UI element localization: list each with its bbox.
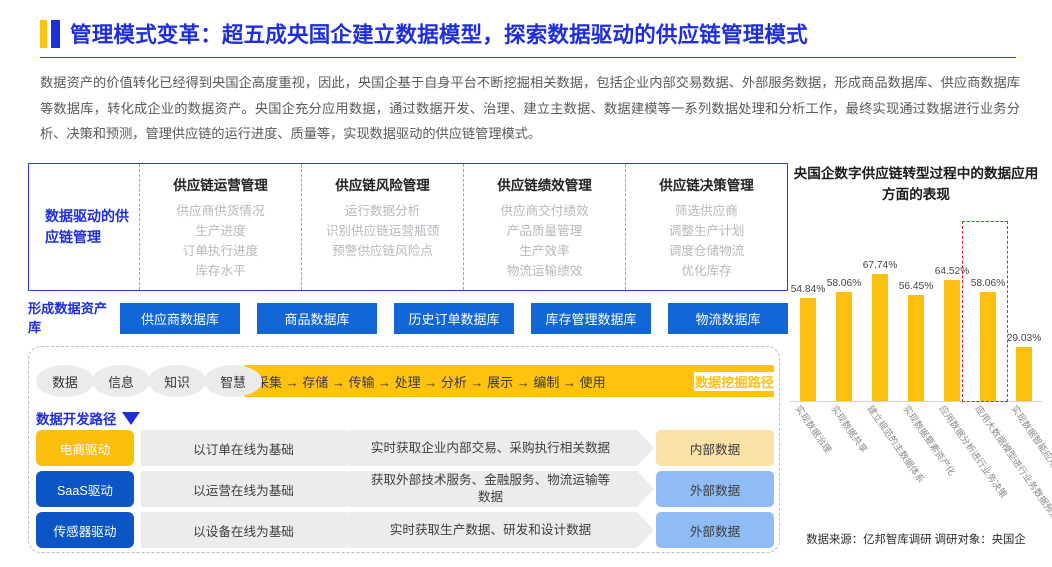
matrix-column-performance: 供应链绩效管理 供应商交付绩效 产品质量管理 生产效率 物流运输绩效 bbox=[463, 164, 625, 290]
driver-row-ecommerce: 电商驱动 以订单在线为基础 实时获取企业内部交易、采购执行相关数据 内部数据 bbox=[36, 430, 774, 466]
matrix-column-title: 供应链决策管理 bbox=[630, 174, 783, 194]
chart-bar-slot: 56.45% bbox=[898, 227, 934, 401]
matrix-column-title: 供应链风险管理 bbox=[306, 174, 459, 194]
page-title-row: 管理模式变革：超五成央国企建立数据模型，探索数据驱动的供应链管理模式 bbox=[40, 18, 1024, 49]
chart-bar bbox=[800, 298, 816, 401]
accent-yellow-bar bbox=[40, 20, 47, 48]
database-button-logistics[interactable]: 物流数据库 bbox=[668, 303, 788, 334]
driver-description: 实时获取生产数据、研发和设计数据 bbox=[348, 512, 637, 548]
chart-plot-area: 54.84%58.06%67.74%56.45%64.52%58.06%29.0… bbox=[790, 227, 1042, 402]
chart-bar-value-label: 54.84% bbox=[791, 284, 826, 295]
stage-chip-wisdom: 智慧 bbox=[204, 365, 262, 397]
matrix-item: 筛选供应商 bbox=[630, 201, 783, 221]
matrix-item: 供应商供货情况 bbox=[144, 201, 297, 221]
title-accent-bars bbox=[40, 20, 60, 48]
data-maturity-path: 数据 信息 知识 智慧 采集 → 存储 → 传输 → 处理 → 分析 → 展示 … bbox=[36, 364, 774, 398]
chart-bar-value-label: 29.03% bbox=[1007, 333, 1042, 344]
driver-description: 实时获取企业内部交易、采购执行相关数据 bbox=[348, 430, 637, 466]
driver-rows: 电商驱动 以订单在线为基础 实时获取企业内部交易、采购执行相关数据 内部数据 S… bbox=[36, 430, 774, 553]
body-paragraph: 数据资产的价值转化已经得到央国企高度重视，因此，央国企基于自身平台不断挖掘相关数… bbox=[40, 70, 1020, 147]
matrix-column-decision: 供应链决策管理 筛选供应商 调整生产计划 调度仓储物流 优化库存 bbox=[625, 164, 787, 290]
stage-chip-knowledge: 知识 bbox=[148, 365, 206, 397]
chart-panel: 央国企数字供应链转型过程中的数据应用方面的表现 54.84%58.06%67.7… bbox=[790, 163, 1042, 553]
data-mining-tag-label: 数据挖掘路径 bbox=[694, 372, 774, 391]
data-development-path-label: 数据开发路径 bbox=[36, 408, 116, 428]
matrix-item: 运行数据分析 bbox=[306, 201, 459, 221]
chart-bar-value-label: 58.06% bbox=[971, 278, 1006, 289]
database-button-supplier[interactable]: 供应商数据库 bbox=[120, 303, 240, 334]
data-mining-tag-wrap: 数据挖掘路径 bbox=[682, 365, 774, 397]
data-development-path-header: 数据开发路径 bbox=[36, 408, 140, 428]
title-divider bbox=[40, 57, 1016, 58]
driver-tag: SaaS驱动 bbox=[36, 471, 134, 507]
matrix-column-risk: 供应链风险管理 运行数据分析 识别供应链运营瓶颈 预警供应链风险点 bbox=[301, 164, 463, 290]
chart-bar bbox=[908, 295, 924, 401]
chart-title: 央国企数字供应链转型过程中的数据应用方面的表现 bbox=[790, 163, 1042, 205]
chart-x-tick-label: 应用数据分析进行业务决策 bbox=[937, 402, 1012, 500]
matrix-item: 产品质量管理 bbox=[468, 221, 621, 241]
chart-bar-slot: 58.06% bbox=[970, 227, 1006, 401]
chart-bar-slot: 29.03% bbox=[1006, 227, 1042, 401]
matrix-header-cell: 数据驱动的供应链管理 bbox=[29, 164, 139, 290]
driver-row-sensor: 传感器驱动 以设备在线为基础 实时获取生产数据、研发和设计数据 外部数据 bbox=[36, 512, 774, 548]
supply-chain-matrix: 数据驱动的供应链管理 供应链运营管理 供应商供货情况 生产进度 订单执行进度 库… bbox=[28, 163, 788, 291]
chart-bar-value-label: 58.06% bbox=[827, 278, 862, 289]
driver-result: 外部数据 bbox=[656, 471, 774, 507]
matrix-column-title: 供应链绩效管理 bbox=[468, 174, 621, 194]
driver-tag: 传感器驱动 bbox=[36, 512, 134, 548]
driver-description: 获取外部技术服务、金融服务、物流运输等数据 bbox=[348, 471, 637, 507]
chart-bar bbox=[980, 292, 996, 401]
data-asset-row: 形成数据资产库 供应商数据库 商品数据库 历史订单数据库 库存管理数据库 物流数… bbox=[28, 297, 788, 339]
driver-basis: 以设备在线为基础 bbox=[141, 512, 346, 548]
stage-chip-information: 信息 bbox=[92, 365, 150, 397]
matrix-header-label: 数据驱动的供应链管理 bbox=[45, 206, 139, 248]
slide-root: 管理模式变革：超五成央国企建立数据模型，探索数据驱动的供应链管理模式 数据资产的… bbox=[0, 0, 1052, 567]
triangle-down-icon bbox=[122, 412, 140, 425]
matrix-item: 优化库存 bbox=[630, 261, 783, 281]
matrix-column-operations: 供应链运营管理 供应商供货情况 生产进度 订单执行进度 库存水平 bbox=[139, 164, 301, 290]
left-arrow-icon bbox=[682, 368, 694, 394]
driver-basis: 以订单在线为基础 bbox=[141, 430, 346, 466]
page-title: 管理模式变革：超五成央国企建立数据模型，探索数据驱动的供应链管理模式 bbox=[70, 18, 808, 49]
chart-bar-slot: 58.06% bbox=[826, 227, 862, 401]
data-asset-label: 形成数据资产库 bbox=[28, 299, 120, 337]
matrix-item: 订单执行进度 bbox=[144, 241, 297, 261]
data-mining-steps: 采集 → 存储 → 传输 → 处理 → 分析 → 展示 → 编制 → 使用 bbox=[244, 372, 606, 391]
driver-result: 内部数据 bbox=[656, 430, 774, 466]
matrix-item: 调整生产计划 bbox=[630, 221, 783, 241]
chart-bar-value-label: 67.74% bbox=[863, 260, 898, 271]
matrix-item: 供应商交付绩效 bbox=[468, 201, 621, 221]
matrix-item: 识别供应链运营瓶颈 bbox=[306, 221, 459, 241]
driver-tag: 电商驱动 bbox=[36, 430, 134, 466]
chart-bar bbox=[944, 280, 960, 401]
chart-bar bbox=[836, 292, 852, 401]
data-mining-band: 采集 → 存储 → 传输 → 处理 → 分析 → 展示 → 编制 → 使用 数据… bbox=[244, 365, 774, 397]
matrix-item: 生产效率 bbox=[468, 241, 621, 261]
database-button-group: 供应商数据库 商品数据库 历史订单数据库 库存管理数据库 物流数据库 bbox=[120, 303, 788, 334]
chart-bar bbox=[1016, 347, 1032, 401]
chart-bar-slot: 54.84% bbox=[790, 227, 826, 401]
driver-basis: 以运营在线为基础 bbox=[141, 471, 346, 507]
left-column: 数据驱动的供应链管理 供应链运营管理 供应商供货情况 生产进度 订单执行进度 库… bbox=[28, 163, 788, 291]
driver-result: 外部数据 bbox=[656, 512, 774, 548]
matrix-item: 调度仓储物流 bbox=[630, 241, 783, 261]
stage-chip-data: 数据 bbox=[36, 365, 94, 397]
driver-row-saas: SaaS驱动 以运营在线为基础 获取外部技术服务、金融服务、物流运输等数据 外部… bbox=[36, 471, 774, 507]
matrix-item: 库存水平 bbox=[144, 261, 297, 281]
chart-x-tick-labels: 实现数据治理实现数据共享建立规范的主数据体系实现数据要素资产化应用数据分析进行业… bbox=[790, 402, 1042, 552]
database-button-order-history[interactable]: 历史订单数据库 bbox=[394, 303, 514, 334]
chart-bar-value-label: 56.45% bbox=[899, 281, 934, 292]
matrix-column-title: 供应链运营管理 bbox=[144, 174, 297, 194]
chart-bar-value-label: 64.52% bbox=[935, 266, 970, 277]
accent-blue-bar bbox=[51, 20, 60, 48]
chart-bar bbox=[872, 274, 888, 401]
matrix-item: 物流运输绩效 bbox=[468, 261, 621, 281]
matrix-item: 生产进度 bbox=[144, 221, 297, 241]
database-button-product[interactable]: 商品数据库 bbox=[257, 303, 377, 334]
chart-bars: 54.84%58.06%67.74%56.45%64.52%58.06%29.0… bbox=[790, 227, 1042, 401]
chart-bar-slot: 64.52% bbox=[934, 227, 970, 401]
chart-bar-slot: 67.74% bbox=[862, 227, 898, 401]
database-button-inventory[interactable]: 库存管理数据库 bbox=[531, 303, 651, 334]
chart-source-note: 数据来源：亿邦智库调研 调研对象：央国企 bbox=[790, 531, 1042, 547]
matrix-item: 预警供应链风险点 bbox=[306, 241, 459, 261]
